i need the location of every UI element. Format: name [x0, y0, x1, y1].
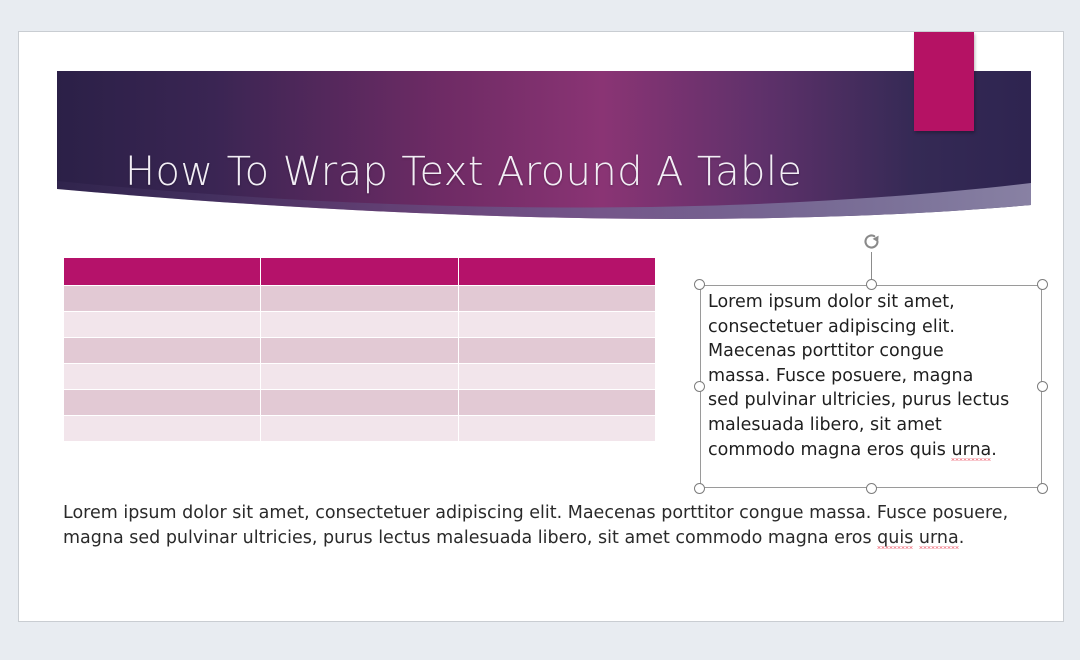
table-cell[interactable] [458, 364, 655, 390]
content-table[interactable] [63, 257, 656, 442]
table-cell[interactable] [261, 338, 458, 364]
table-cell[interactable] [64, 338, 261, 364]
floating-text-box[interactable]: Lorem ipsum dolor sit amet, consectetuer… [700, 285, 1042, 488]
table-cell[interactable] [261, 312, 458, 338]
textbox-line: commodo magna eros quis [708, 440, 951, 460]
table-body [64, 286, 656, 442]
resize-handle-bottom-left[interactable] [694, 483, 705, 494]
misspelled-word-urna[interactable]: urna [951, 440, 991, 461]
resize-handle-bottom-right[interactable] [1037, 483, 1048, 494]
body-text-main: Lorem ipsum dolor sit amet, consectetuer… [63, 503, 1008, 548]
table-cell[interactable] [458, 312, 655, 338]
resize-handle-top-right[interactable] [1037, 279, 1048, 290]
table-header-cell[interactable] [64, 258, 261, 286]
table-cell[interactable] [458, 286, 655, 312]
resize-handle-bottom-middle[interactable] [866, 483, 877, 494]
resize-handle-middle-right[interactable] [1037, 381, 1048, 392]
textbox-line-end: . [991, 440, 997, 460]
table-row[interactable] [64, 286, 656, 312]
table-cell[interactable] [458, 338, 655, 364]
textbox-line: Maecenas porttitor congue [708, 341, 944, 361]
rotate-icon[interactable] [860, 230, 883, 253]
misspelled-word-quis[interactable]: quis [877, 528, 913, 549]
textbox-line: massa. Fusce posuere, magna [708, 366, 973, 386]
body-paragraph[interactable]: Lorem ipsum dolor sit amet, consectetuer… [63, 501, 1013, 550]
table-cell[interactable] [261, 390, 458, 416]
body-text-end: . [959, 528, 965, 548]
table-row[interactable] [64, 390, 656, 416]
resize-handle-middle-left[interactable] [694, 381, 705, 392]
table-cell[interactable] [458, 416, 655, 442]
table-row[interactable] [64, 416, 656, 442]
table-cell[interactable] [261, 364, 458, 390]
textbox-line: consectetuer adipiscing elit. [708, 317, 955, 337]
floating-text-box-content[interactable]: Lorem ipsum dolor sit amet, consectetuer… [708, 290, 1036, 462]
table-row[interactable] [64, 338, 656, 364]
table-header [64, 258, 656, 286]
table-row[interactable] [64, 364, 656, 390]
slide-surface[interactable]: How To Wrap Text Around A Table [18, 31, 1064, 622]
rotate-icon-svg [860, 230, 883, 253]
textbox-line: malesuada libero, sit amet [708, 415, 942, 435]
textbox-line: sed pulvinar ultricies, purus lectus [708, 390, 1009, 410]
resize-handle-top-left[interactable] [694, 279, 705, 290]
table-cell[interactable] [64, 390, 261, 416]
slide-title[interactable]: How To Wrap Text Around A Table [125, 149, 925, 195]
table-cell[interactable] [64, 364, 261, 390]
table-cell[interactable] [458, 390, 655, 416]
presentation-editor-canvas: How To Wrap Text Around A Table [0, 0, 1080, 660]
table-cell[interactable] [64, 286, 261, 312]
resize-handle-top-middle[interactable] [866, 279, 877, 290]
textbox-line: Lorem ipsum dolor sit amet, [708, 292, 955, 312]
table-row[interactable] [64, 312, 656, 338]
table-cell[interactable] [261, 416, 458, 442]
table-header-cell[interactable] [261, 258, 458, 286]
decorative-accent-rectangle[interactable] [914, 32, 974, 131]
table-header-cell[interactable] [458, 258, 655, 286]
misspelled-word-urna[interactable]: urna [919, 528, 959, 549]
table-cell[interactable] [64, 312, 261, 338]
table-header-row[interactable] [64, 258, 656, 286]
table-cell[interactable] [261, 286, 458, 312]
table-cell[interactable] [64, 416, 261, 442]
